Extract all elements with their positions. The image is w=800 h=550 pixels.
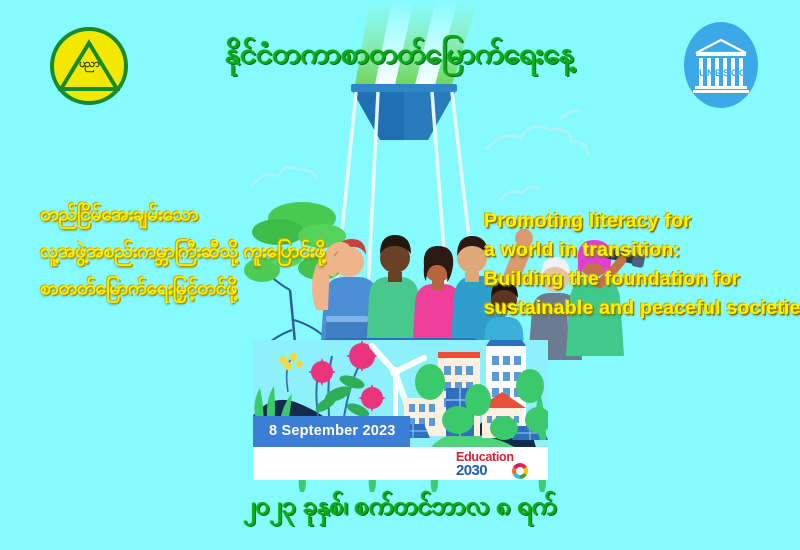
education-2030-number: 2030	[456, 462, 487, 479]
balloon-ropes	[336, 92, 475, 290]
balloon-basket	[320, 338, 480, 416]
city-trees	[415, 364, 551, 440]
unesco-temple-icon: UNE SCO	[684, 22, 758, 108]
slogan-en-line-3: Building the foundation for	[484, 265, 794, 294]
sdg-wheel-icon	[512, 463, 528, 479]
slogan-en-line-1: Promoting literacy for	[484, 207, 794, 236]
balloon-base	[351, 84, 457, 140]
svg-text:E: E	[715, 68, 721, 78]
svg-text:U: U	[699, 68, 706, 78]
leaves	[313, 373, 371, 420]
svg-text:N: N	[707, 68, 714, 78]
slogan-en-line-4: sustainable and peaceful societies	[484, 294, 794, 323]
slogan-my-line-3: စာတတ်မြောက်ရေးမြှင့်တင်ဖို့	[40, 270, 310, 307]
date-myanmar: ၂၀၂၃ ခုနှစ်၊ စက်တင်ဘာလ ၈ ရက်	[180, 490, 620, 527]
open-book-icon	[368, 359, 432, 404]
ministry-logo: ပညာ	[50, 27, 128, 105]
yellow-flowers	[279, 353, 303, 392]
slogan-en-line-2: a world in transition:	[484, 236, 794, 265]
slogan-my-line-2: လူ့အဖွဲ့အစည်းကမ္ဘာကြီးဆီသို့ ကူးပြောင်းဖ…	[40, 233, 310, 270]
page-title: နိုင်ငံတကာစာတတ်မြောက်ရေးနေ့	[200, 36, 600, 72]
lotus-1	[308, 358, 336, 386]
education-2030-logo: Education 2030	[456, 450, 542, 480]
footer-white-panel: Education 2030	[253, 447, 548, 480]
svg-text:S: S	[723, 68, 729, 78]
right-grass	[536, 392, 560, 440]
slogan-english: Promoting literacy for a world in transi…	[484, 207, 794, 322]
lotus-3	[358, 384, 386, 412]
slogan-myanmar: တည်ငြိမ်အေးချမ်းသော လူ့အဖွဲ့အစည်းကမ္ဘာကြ…	[40, 196, 310, 307]
unesco-logo: UNE SCO	[684, 22, 758, 108]
svg-text:C: C	[731, 68, 738, 78]
date-banner: 8 September 2023	[253, 416, 410, 447]
lotus-2	[346, 340, 378, 372]
buildings-cluster	[404, 334, 526, 438]
cloud-outlines	[252, 111, 588, 200]
ministry-logo-text: ပညာ	[50, 57, 128, 73]
solar-panels	[396, 424, 548, 440]
literacy-day-poster: ပညာ UNE SCO နိုင်ငံတကာစာတတ်မြောက်ရေးနေ့	[0, 0, 800, 550]
svg-text:O: O	[739, 68, 746, 78]
slogan-my-line-1: တည်ငြိမ်အေးချမ်းသော	[40, 196, 310, 233]
